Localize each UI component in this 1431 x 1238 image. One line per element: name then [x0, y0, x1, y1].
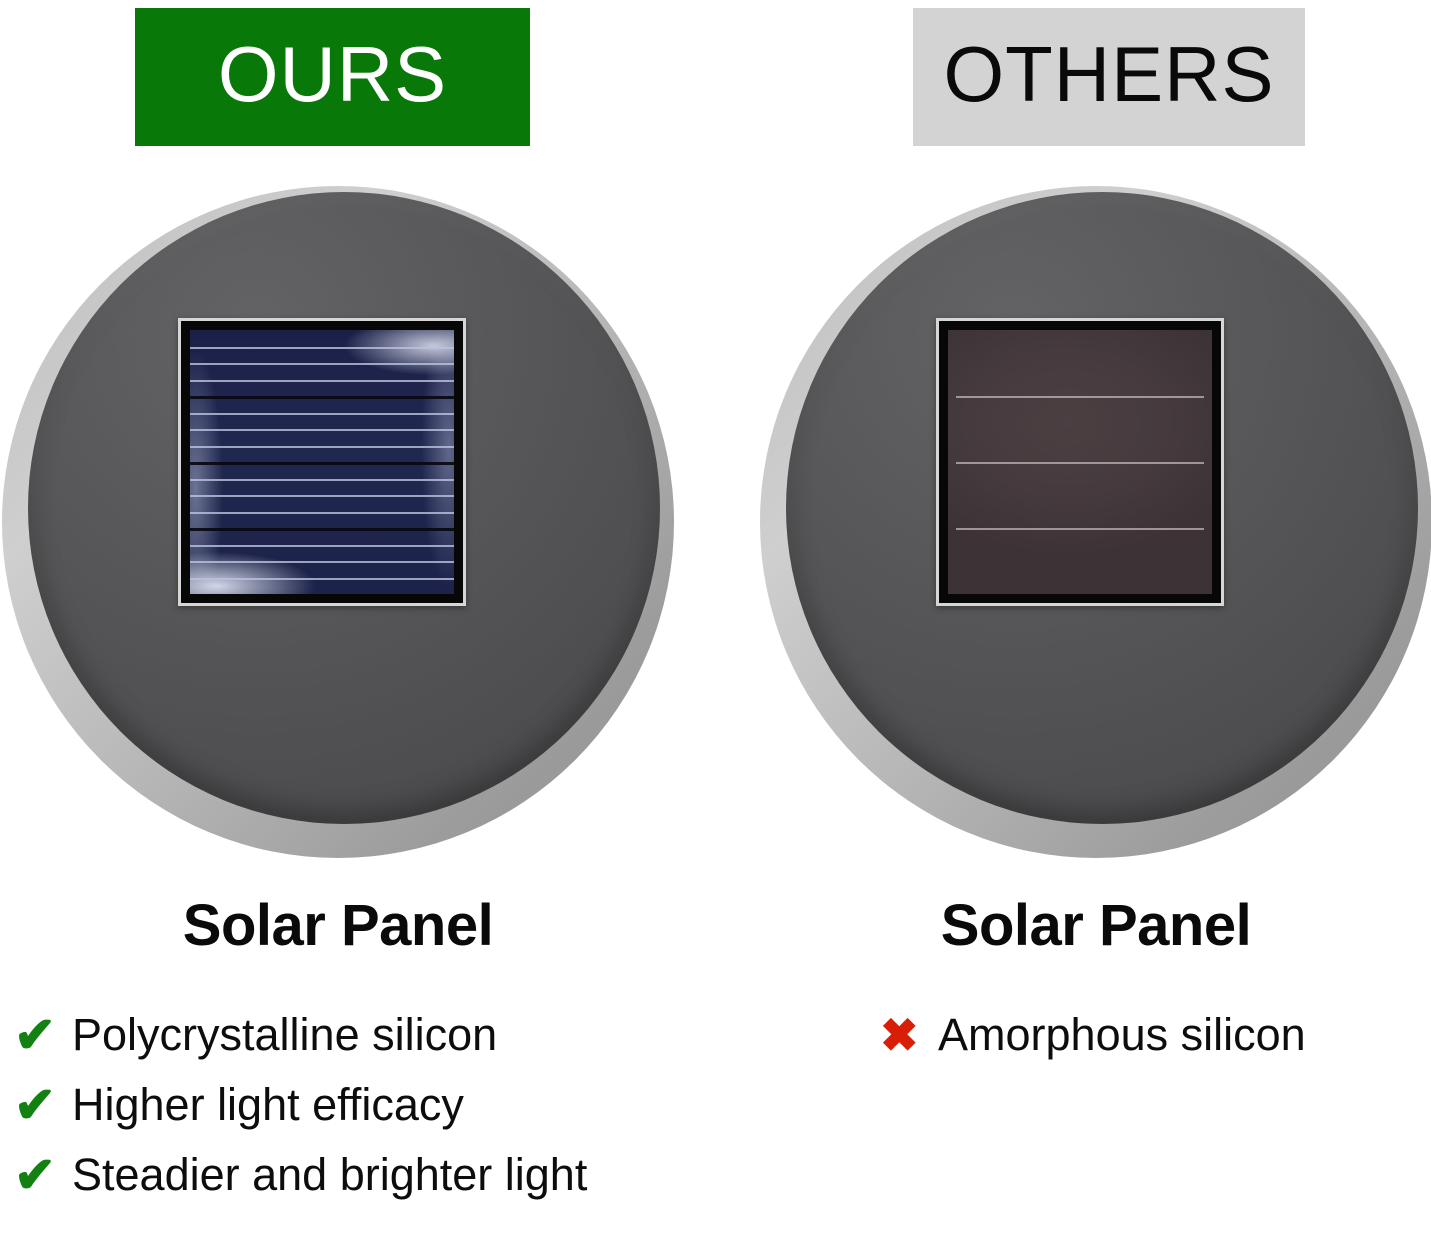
panel-busbar-line: [190, 528, 454, 531]
ours-feature-list: ✔Polycrystalline silicon✔Higher light ef…: [14, 1000, 714, 1210]
others-panel-caption: Solar Panel: [760, 892, 1431, 959]
ours-panel-caption: Solar Panel: [2, 892, 674, 959]
panel-cell-line: [956, 462, 1204, 464]
feature-label: Steadier and brighter light: [72, 1149, 587, 1201]
feature-row: ✖Amorphous silicon: [880, 1000, 1420, 1070]
ours-solar-panel: [178, 318, 466, 606]
panel-cell-line: [190, 495, 454, 497]
panel-cell-line: [190, 446, 454, 448]
panel-cell-line: [190, 561, 454, 563]
panel-cell-line: [956, 528, 1204, 530]
panel-frame: [939, 321, 1221, 603]
ours-banner: OURS: [135, 8, 530, 146]
feature-label: Polycrystalline silicon: [72, 1009, 497, 1061]
others-feature-list: ✖Amorphous silicon: [880, 1000, 1420, 1070]
panel-cell-line: [190, 429, 454, 431]
panel-busbar-line: [190, 462, 454, 465]
feature-label: Higher light efficacy: [72, 1079, 464, 1131]
check-icon: ✔: [14, 1150, 72, 1200]
cross-icon: ✖: [880, 1012, 938, 1058]
panel-busbar-line: [190, 396, 454, 399]
panel-cell-line: [190, 479, 454, 481]
feature-row: ✔Steadier and brighter light: [14, 1140, 714, 1210]
ours-solar-lamp-image: [2, 186, 674, 858]
check-icon: ✔: [14, 1010, 72, 1060]
panel-cell-line: [190, 363, 454, 365]
ours-banner-label: OURS: [218, 35, 447, 119]
others-solar-lamp-image: [760, 186, 1431, 858]
panel-cell-line: [190, 413, 454, 415]
panel-cell-line: [190, 545, 454, 547]
panel-cell-line: [190, 380, 454, 382]
feature-row: ✔Polycrystalline silicon: [14, 1000, 714, 1070]
panel-cell-line: [190, 347, 454, 349]
panel-cell-line: [956, 396, 1204, 398]
feature-row: ✔Higher light efficacy: [14, 1070, 714, 1140]
others-solar-panel: [936, 318, 1224, 606]
panel-cell-line: [190, 512, 454, 514]
comparison-infographic: OURS OTHERS Solar Panel Solar Panel ✔Pol…: [0, 0, 1431, 1238]
check-icon: ✔: [14, 1080, 72, 1130]
amorphous-panel-face: [948, 330, 1212, 594]
panel-cell-line: [190, 578, 454, 580]
others-banner: OTHERS: [913, 8, 1305, 146]
others-banner-label: OTHERS: [943, 35, 1274, 119]
polycrystalline-panel-face: [190, 330, 454, 594]
feature-label: Amorphous silicon: [938, 1009, 1306, 1061]
panel-frame: [181, 321, 463, 603]
